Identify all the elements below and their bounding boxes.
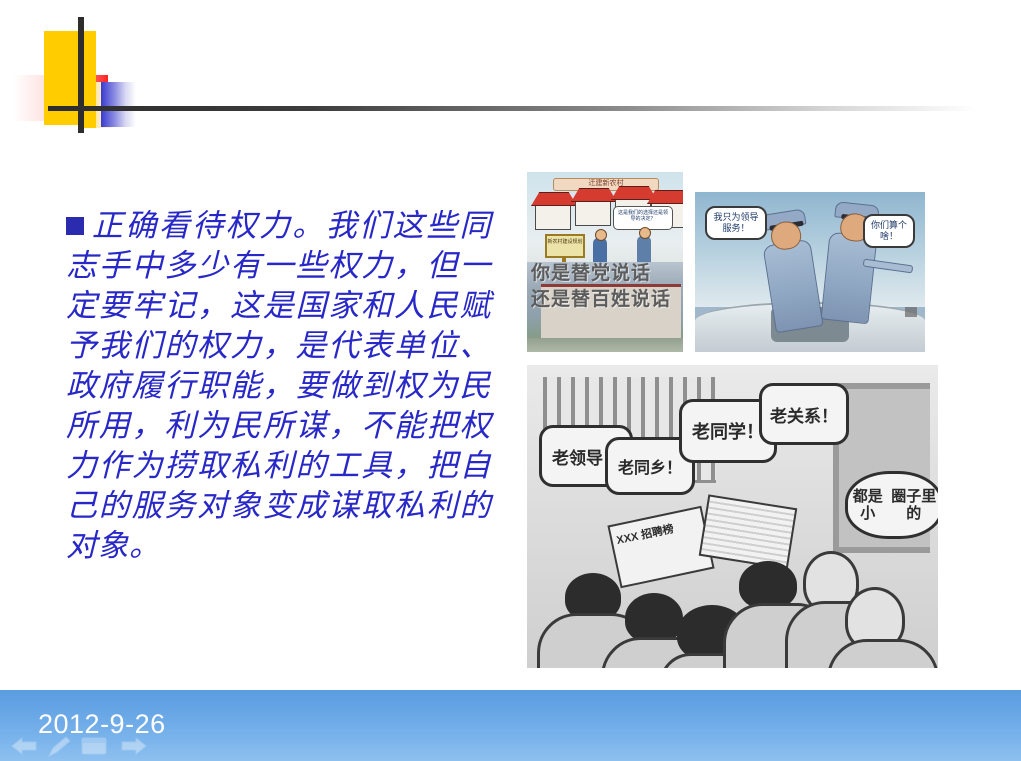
house-shape [535, 202, 571, 230]
slide-menu-icon[interactable] [80, 735, 108, 757]
previous-slide-icon[interactable] [10, 735, 40, 757]
crowd-thought-line1: 都是小 [848, 488, 887, 522]
officer-bubble-right: 你们算个啥！ [863, 214, 915, 248]
body-paragraph: 正确看待权力。我们这些同志手中多少有一些权力，但一定要牢记，这是国家和人民赋予我… [66, 208, 491, 563]
decor-horizontal-rule [48, 106, 978, 111]
house-shape [575, 198, 611, 226]
picture-crowd-cartoon[interactable]: 老领导！ 老同乡！ 老同学！ 老关系！ 都是小 圈子里的 XXX 招聘榜 [527, 365, 938, 668]
presentation-slide: 正确看待权力。我们这些同志手中多少有一些权力，但一定要牢记，这是国家和人民赋予我… [0, 0, 1021, 761]
officer-bubble-left: 我只为领导服务！ [705, 206, 767, 240]
officers-signature-stamp [905, 307, 917, 317]
bullet-square-icon [66, 217, 84, 235]
decor-blue-gradient-block [101, 82, 136, 127]
crowd-person-head [739, 561, 797, 609]
crowd-bubble-4: 老关系！ [759, 383, 849, 445]
village-bubble-text: 这是我们的选择还是领导的决定？ [614, 207, 672, 225]
crowd-thought-bubble: 都是小 圈子里的 [845, 471, 938, 539]
decor-vertical-rule [78, 17, 84, 133]
crowd-thought-line2: 圈子里的 [887, 488, 938, 522]
village-sign: 新农村建设规划 [545, 234, 585, 258]
pen-tool-icon[interactable] [46, 735, 72, 759]
village-caption-line2: 还是替百姓说话 [531, 284, 683, 311]
picture-two-officers-cartoon[interactable]: 我只为领导服务！ 你们算个啥！ [695, 192, 925, 352]
decor-yellow-bar [82, 31, 96, 128]
picture-village-cartoon[interactable]: 迁建新农村 新农村建设规划 这是我们的选择还是领导的决定？ 你是替党说话 还是替… [527, 172, 683, 352]
village-caption-line1: 你是替党说话 [531, 258, 683, 285]
crowd-person-head [625, 593, 683, 643]
slide-body-text: 正确看待权力。我们这些同志手中多少有一些权力，但一定要牢记，这是国家和人民赋予我… [66, 206, 491, 566]
village-sign-text: 新农村建设规划 [547, 236, 583, 245]
next-slide-icon[interactable] [118, 735, 148, 757]
village-road [527, 338, 683, 352]
